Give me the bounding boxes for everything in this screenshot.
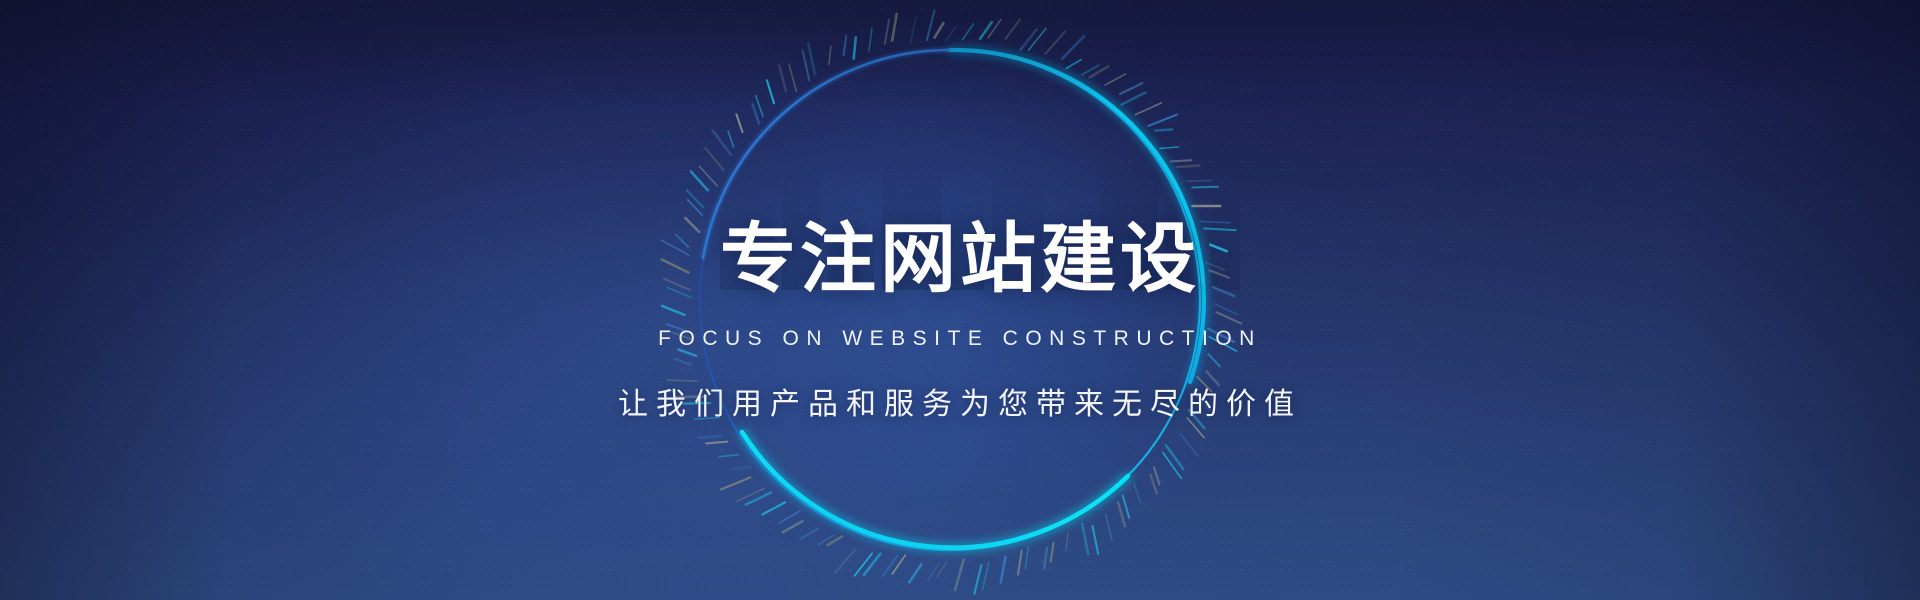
hero-banner: 专注网站建设 FOCUS ON WEBSITE CONSTRUCTION 让我们…: [0, 0, 1920, 600]
hero-tagline: 让我们用产品和服务为您带来无尽的价值: [0, 379, 1920, 423]
hero-subheadline: FOCUS ON WEBSITE CONSTRUCTION: [0, 327, 1920, 351]
hero-headline: 专注网站建设: [0, 222, 1920, 298]
